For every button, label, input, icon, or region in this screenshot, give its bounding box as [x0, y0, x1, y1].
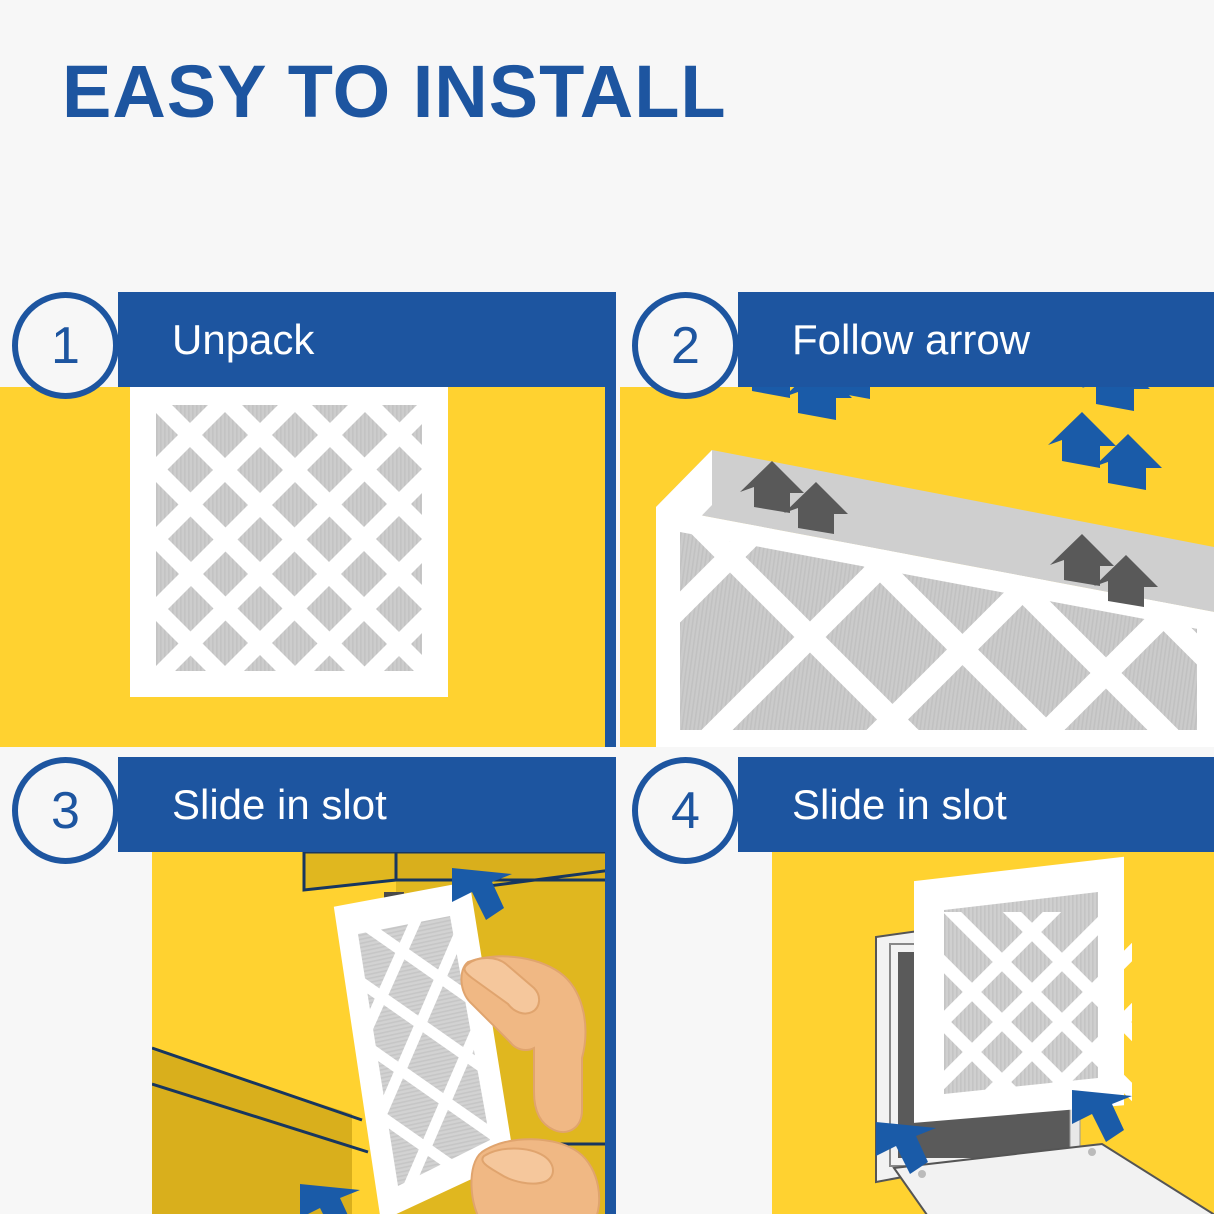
- step-4-side-label-wrap: WALL UNIT: [672, 852, 772, 1214]
- step-3-number: 3: [18, 763, 113, 858]
- panel-divider-bottom: [605, 757, 616, 1214]
- step-4-number-badge: 4: [632, 757, 739, 864]
- step-4-number: 4: [638, 763, 733, 858]
- step-3-side-label-wrap: CENTRAL UNIT: [52, 852, 152, 1214]
- step-3-illustration-area: [152, 852, 605, 1214]
- step-card-3: CENTRAL UNIT Slide in slot 3: [0, 757, 605, 1214]
- step-1-header-bar: Unpack: [118, 292, 605, 387]
- step-2-number: 2: [638, 298, 733, 393]
- step-3-header-bar: Slide in slot: [118, 757, 605, 852]
- step-4-illustration-area: [772, 852, 1214, 1214]
- step-1-label: Unpack: [172, 316, 314, 364]
- step-2-header-bar: Follow arrow: [738, 292, 1214, 387]
- blue-airflow-arrow-right: [1048, 412, 1162, 490]
- step-1-number-badge: 1: [12, 292, 119, 399]
- step-card-4: WALL UNIT Slide in slot 4: [620, 757, 1214, 1214]
- step-card-1: Unpack 1: [0, 292, 605, 747]
- step-1-illustration-area: [0, 387, 605, 747]
- infographic-root: EASY TO INSTALL: [0, 0, 1214, 1214]
- air-filter-airflow-icon: [620, 387, 1214, 747]
- step-2-illustration-area: [620, 387, 1214, 747]
- step-2-number-badge: 2: [632, 292, 739, 399]
- page-title: EASY TO INSTALL: [62, 55, 727, 129]
- step-4-header-bar: Slide in slot: [738, 757, 1214, 852]
- step-3-label: Slide in slot: [172, 781, 387, 829]
- step-1-number: 1: [18, 298, 113, 393]
- step-2-label: Follow arrow: [792, 316, 1030, 364]
- step-card-2: Follow arrow 2: [620, 292, 1214, 747]
- step-3-number-badge: 3: [12, 757, 119, 864]
- air-filter-front-icon: [0, 387, 605, 747]
- central-unit-scene-icon: [152, 852, 605, 1214]
- step-4-label: Slide in slot: [792, 781, 1007, 829]
- wall-unit-scene-icon: [772, 852, 1214, 1214]
- panel-divider-top: [605, 292, 616, 747]
